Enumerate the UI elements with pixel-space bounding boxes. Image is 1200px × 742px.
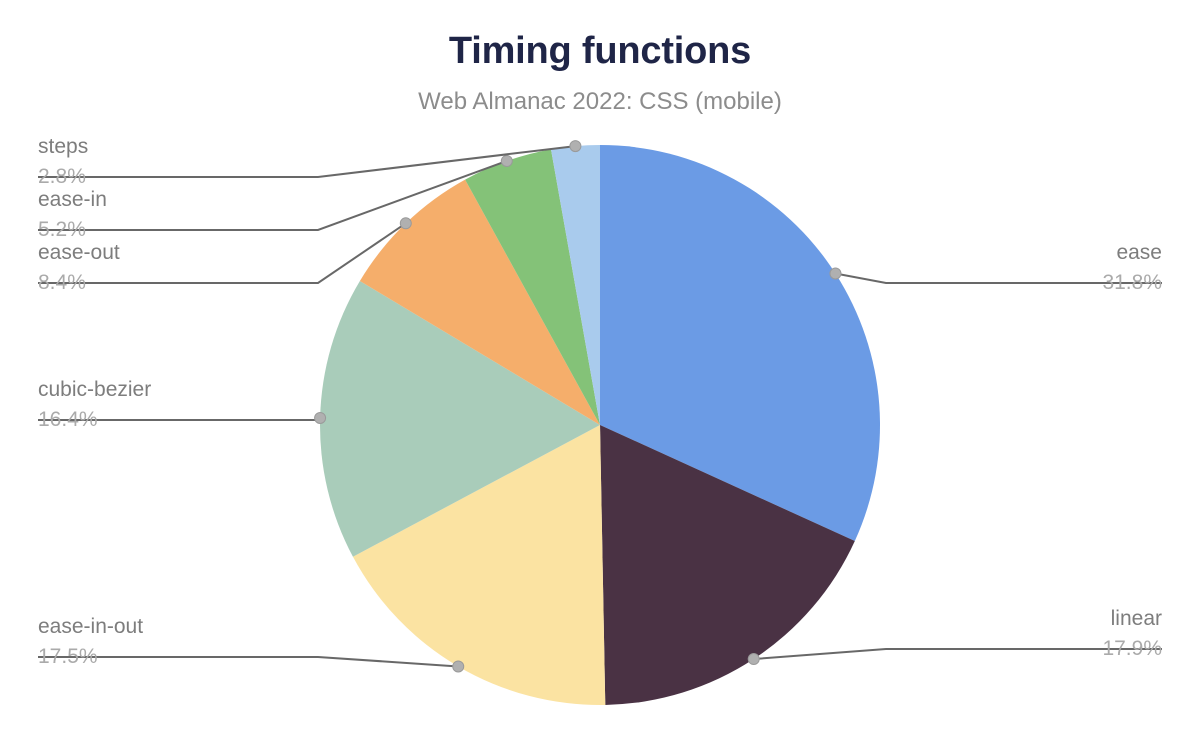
pie-chart-page: Timing functions Web Almanac 2022: CSS (… xyxy=(0,0,1200,742)
pie-chart-svg xyxy=(0,0,1200,742)
slice-label-name-steps: steps xyxy=(38,132,88,162)
slice-label-value-ease-in: 5.2% xyxy=(38,215,107,245)
slice-label-name-linear: linear xyxy=(1102,604,1162,634)
slice-label-name-cubic-bezier: cubic-bezier xyxy=(38,375,151,405)
slice-label-value-cubic-bezier: 16.4% xyxy=(38,405,151,435)
leader-dot-ease-in xyxy=(501,155,512,166)
slice-label-steps: steps2.8% xyxy=(38,132,88,192)
leader-dot-linear xyxy=(748,654,759,665)
leader-dot-ease-out xyxy=(400,218,411,229)
slice-label-value-ease-in-out: 17.5% xyxy=(38,642,143,672)
slice-label-value-steps: 2.8% xyxy=(38,162,88,192)
slice-label-ease: ease31.8% xyxy=(1102,238,1162,298)
leader-dot-ease-in-out xyxy=(453,661,464,672)
slice-label-linear: linear17.9% xyxy=(1102,604,1162,664)
leader-dot-ease xyxy=(830,268,841,279)
leader-dot-steps xyxy=(570,141,581,152)
leader-dot-cubic-bezier xyxy=(315,412,326,423)
slice-label-cubic-bezier: cubic-bezier16.4% xyxy=(38,375,151,435)
slice-label-value-linear: 17.9% xyxy=(1102,634,1162,664)
slice-label-ease-out: ease-out8.4% xyxy=(38,238,120,298)
leader-line-linear xyxy=(754,649,1162,659)
slice-label-ease-in: ease-in5.2% xyxy=(38,185,107,245)
slice-label-name-ease: ease xyxy=(1102,238,1162,268)
slice-label-name-ease-in-out: ease-in-out xyxy=(38,612,143,642)
slice-label-value-ease: 31.8% xyxy=(1102,268,1162,298)
slice-label-ease-in-out: ease-in-out17.5% xyxy=(38,612,143,672)
slice-label-value-ease-out: 8.4% xyxy=(38,268,120,298)
